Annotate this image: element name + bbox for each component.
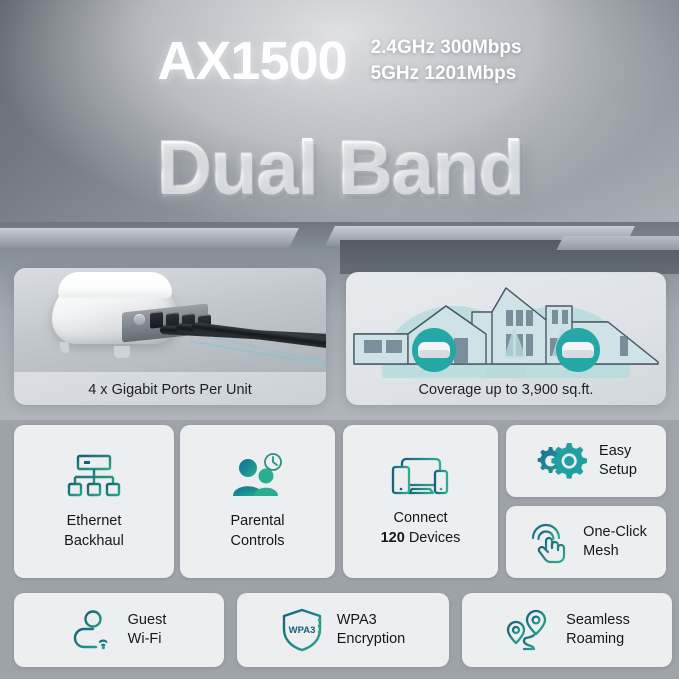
feature-card-ethernet-backhaul[interactable]: Ethernet Backhaul <box>14 425 174 578</box>
house-coverage-illustration <box>346 276 666 378</box>
gears-icon <box>535 439 587 483</box>
hero-subtitle: Dual Band <box>156 130 523 206</box>
page-title: AX1500 <box>157 34 346 88</box>
feature-label-line1: Parental <box>230 512 284 531</box>
feature-label-line1: Guest <box>128 611 167 630</box>
shield-wpa3-icon: WPA3 <box>281 607 325 653</box>
feature-label-guest-wifi: Guest Wi-Fi <box>128 611 167 650</box>
spec-2ghz: 2.4GHz 300Mbps <box>371 35 522 61</box>
feature-label-wpa3-encryption: WPA3 Encryption <box>337 611 406 650</box>
router-photo <box>14 268 326 372</box>
feature-card-easy-setup[interactable]: Easy Setup <box>506 425 666 497</box>
feature-label-one-click-mesh: One-Click Mesh <box>583 523 647 562</box>
ports-panel: 4 x Gigabit Ports Per Unit <box>14 268 326 405</box>
feature-label-line2: Roaming <box>566 630 630 649</box>
hero-subtitle-wrap: Dual Band <box>0 118 679 218</box>
feature-label-ethernet-backhaul: Ethernet Backhaul <box>64 512 124 550</box>
feature-label-connect-devices: Connect 120 Devices <box>381 509 461 547</box>
feature-label-parental-controls: Parental Controls <box>230 512 284 550</box>
multi-device-icon <box>390 455 452 499</box>
hero-slab-far-right <box>557 236 679 250</box>
people-clock-icon <box>229 452 287 502</box>
feature-label-line2: Setup <box>599 461 637 480</box>
feature-label-line1: One-Click <box>583 523 647 542</box>
device-count: 120 <box>381 530 405 546</box>
router-power-button <box>134 314 145 325</box>
feature-label-line1: Ethernet <box>64 512 124 531</box>
router-foot-right <box>114 346 130 358</box>
feature-label-line2: 120 Devices <box>381 529 461 548</box>
feature-label-line2: Mesh <box>583 542 647 561</box>
feature-label-easy-setup: Easy Setup <box>599 442 637 481</box>
tap-hand-icon <box>525 518 571 566</box>
coverage-panel-caption: Coverage up to 3,900 sq.ft. <box>346 382 666 398</box>
feature-card-one-click-mesh[interactable]: One-Click Mesh <box>506 506 666 578</box>
feature-label-line1: Connect <box>381 509 461 528</box>
feature-label-line1: Easy <box>599 442 637 461</box>
feature-card-parental-controls[interactable]: Parental Controls <box>180 425 335 578</box>
spec-5ghz: 5GHz 1201Mbps <box>371 61 522 87</box>
feature-label-line1: WPA3 <box>337 611 406 630</box>
ports-panel-caption: 4 x Gigabit Ports Per Unit <box>14 382 326 398</box>
map-pins-path-icon <box>504 608 554 652</box>
feature-label-line2: Wi-Fi <box>128 630 167 649</box>
device-word: Devices <box>405 530 461 546</box>
shield-wpa3-text: WPA3 <box>288 625 315 636</box>
feature-card-connect-devices[interactable]: Connect 120 Devices <box>343 425 498 578</box>
router-foot-left <box>59 342 70 353</box>
network-tree-icon <box>66 452 122 502</box>
hero-spec-block: 2.4GHz 300Mbps 5GHz 1201Mbps <box>371 35 522 87</box>
feature-card-wpa3-encryption[interactable]: WPA3 WPA3 Encryption <box>237 593 449 667</box>
hero-slab-left <box>0 228 299 248</box>
feature-label-line1: Seamless <box>566 611 630 630</box>
feature-label-line2: Controls <box>230 532 284 551</box>
router-top-cap <box>58 272 172 298</box>
router-node-left <box>412 328 456 372</box>
feature-card-guest-wifi[interactable]: Guest Wi-Fi <box>14 593 224 667</box>
feature-label-seamless-roaming: Seamless Roaming <box>566 611 630 650</box>
feature-label-line2: Backhaul <box>64 532 124 551</box>
hero-headline-row: AX1500 2.4GHz 300Mbps 5GHz 1201Mbps <box>0 34 679 88</box>
guest-user-wifi-icon <box>72 609 116 651</box>
feature-card-seamless-roaming[interactable]: Seamless Roaming <box>462 593 672 667</box>
feature-label-line2: Encryption <box>337 630 406 649</box>
coverage-panel: Coverage up to 3,900 sq.ft. <box>346 272 666 405</box>
router-node-right <box>556 328 600 372</box>
